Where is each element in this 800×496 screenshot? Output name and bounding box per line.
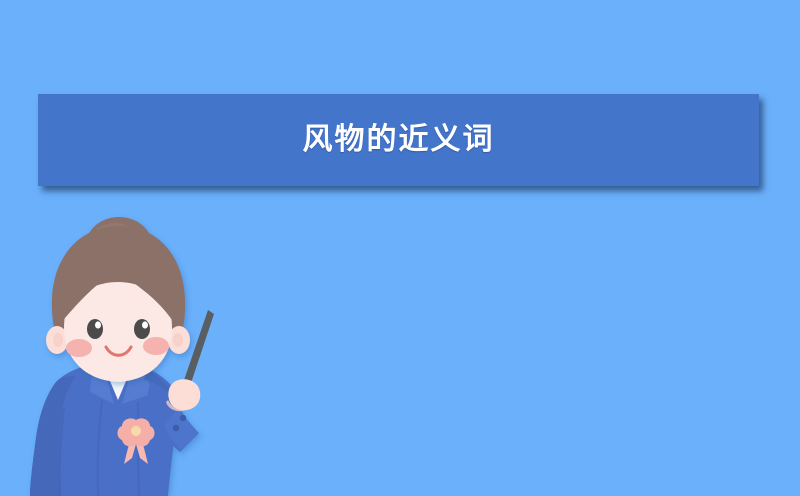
cheek-left [66,339,92,357]
teacher-hand [168,379,200,410]
sleeve-button-2 [180,415,186,421]
eye-right-highlight [142,321,148,328]
slide-canvas: 风物的近义词 [0,0,800,496]
eye-right [134,319,150,339]
teacher-illustration [18,212,248,496]
ear-right-inner [173,333,183,347]
sleeve-button-1 [173,425,179,431]
badge-center [131,426,141,436]
page-title: 风物的近义词 [303,125,495,155]
eye-left [87,319,103,339]
ear-left-inner [53,333,63,347]
eye-left-highlight [95,321,101,328]
teacher-head [46,217,190,382]
cheek-right [143,337,169,355]
title-banner: 风物的近义词 [38,94,759,186]
